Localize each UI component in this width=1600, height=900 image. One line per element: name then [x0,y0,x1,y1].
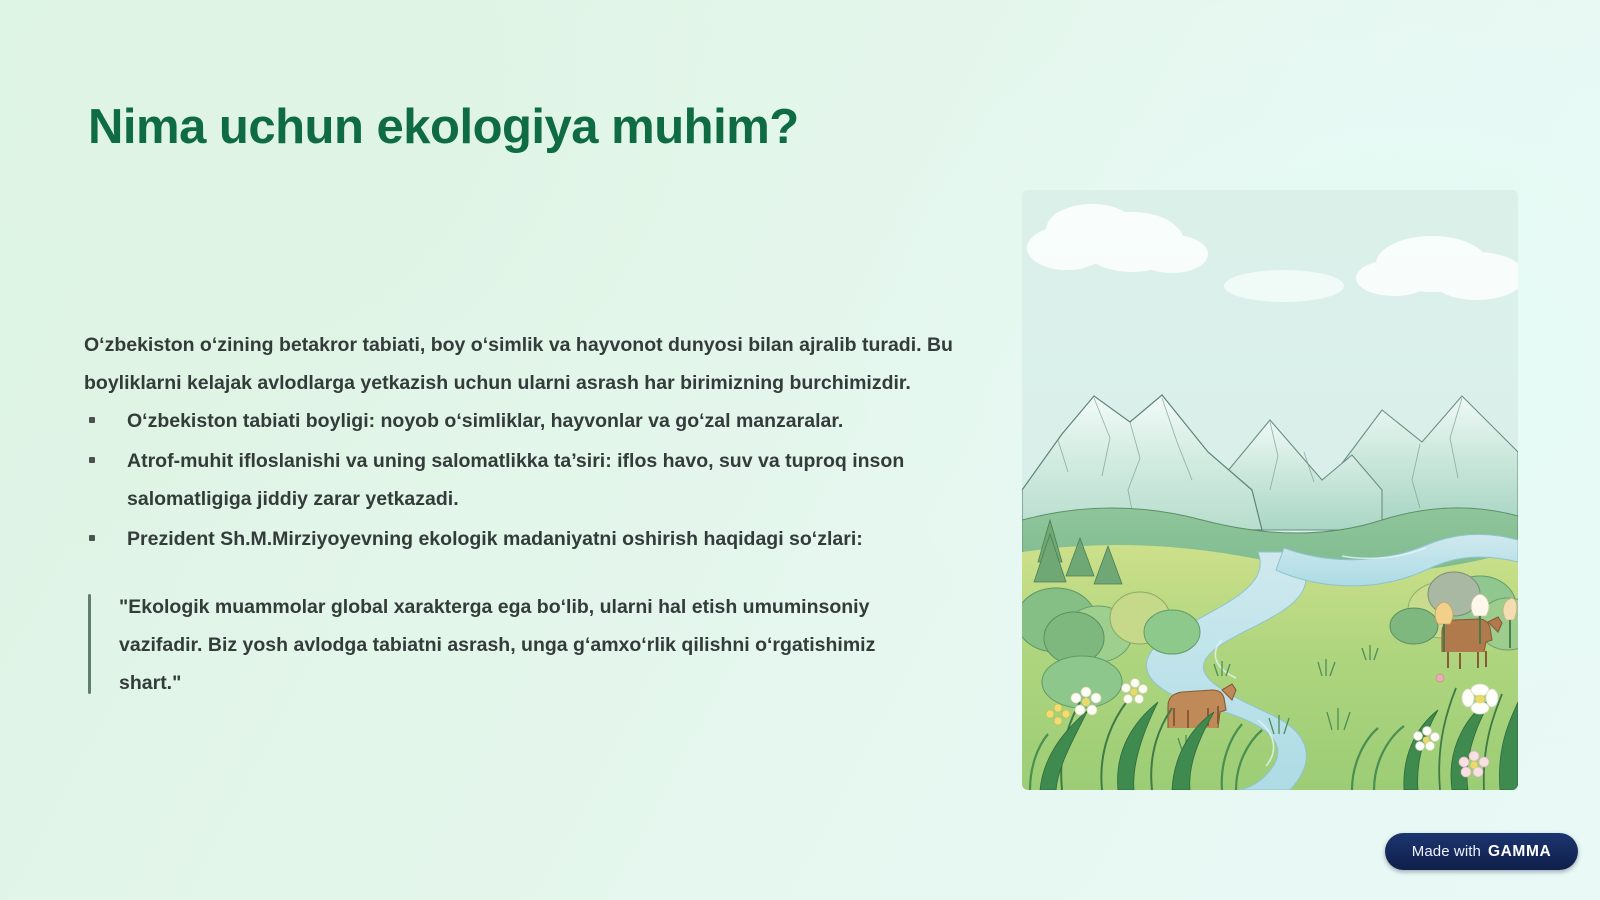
pink-bud [1436,674,1444,682]
badge-brand-label: GAMMA [1488,843,1551,861]
nature-landscape-illustration [1022,190,1518,790]
list-item-label: Atrof-muhit ifloslanishi va uning saloma… [127,450,904,510]
list-item: O‘zbekiston tabiati boyligi: noyob o‘sim… [84,402,974,440]
list-item-label: O‘zbekiston tabiati boyligi: noyob o‘sim… [127,410,843,432]
quote-block: "Ekologik muammolar global xarakterga eg… [88,588,934,702]
slide-canvas: Nima uchun ekologiya muhim? O‘zbekiston … [0,0,1600,900]
bullet-marker-icon [89,417,95,423]
quote-accent-bar [88,594,91,694]
badge-made-with-label: Made with [1412,843,1481,860]
bullet-marker-icon [89,457,95,463]
bullet-list: O‘zbekiston tabiati boyligi: noyob o‘sim… [84,402,974,558]
list-item-label: Prezident Sh.M.Mirziyoyevning ekologik m… [127,528,863,550]
made-with-gamma-badge[interactable]: Made with GAMMA [1385,833,1578,870]
list-item: Atrof-muhit ifloslanishi va uning saloma… [84,442,974,518]
landscape-svg [1022,190,1518,790]
bullet-marker-icon [89,535,95,541]
page-title: Nima uchun ekologiya muhim? [88,99,1088,155]
list-item: Prezident Sh.M.Mirziyoyevning ekologik m… [84,520,974,558]
intro-paragraph: O‘zbekiston o‘zining betakror tabiati, b… [84,326,974,402]
content-column: O‘zbekiston o‘zining betakror tabiati, b… [84,326,974,722]
quote-text: "Ekologik muammolar global xarakterga eg… [119,596,875,694]
